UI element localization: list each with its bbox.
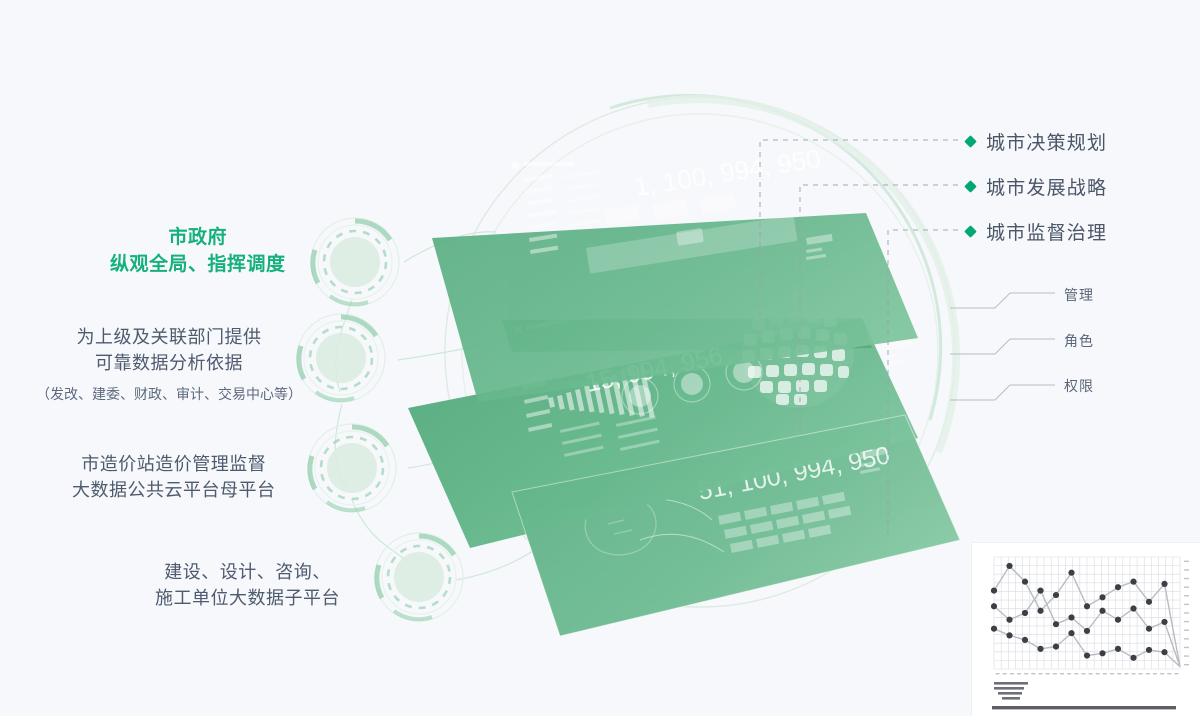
- panel-top: 1, 100, 994, 950: [432, 143, 918, 402]
- right-label-text: 城市监督治理: [986, 218, 1107, 245]
- ring-icon-3: [308, 424, 396, 512]
- panel-bottom-metric: 51, 100, 994, 950: [696, 441, 892, 506]
- panel-top-metric: 1, 100, 994, 950: [632, 143, 822, 202]
- ring-connector-path: [335, 232, 556, 580]
- dashed-connectors: [760, 140, 958, 538]
- inset-footer-lines: [994, 682, 1028, 700]
- panel-bottom: 51, 100, 994, 950: [512, 415, 960, 636]
- inset-line-chart: [972, 543, 1200, 716]
- right-label-city-supervision-governance: 城市监督治理: [966, 218, 1107, 245]
- diamond-bullet-icon: [964, 225, 977, 238]
- ring-icon-4: [375, 533, 463, 621]
- background-arc: [610, 95, 941, 420]
- right-label-city-development-strategy: 城市发展战略: [966, 173, 1107, 200]
- left-label-line: 建设、设计、咨询、: [155, 560, 340, 586]
- background-circles: [445, 97, 955, 607]
- ring-icon-1: [311, 218, 399, 306]
- inset-footer-bar: [992, 706, 1176, 709]
- left-label-line: 市政府: [110, 225, 286, 252]
- left-label-city-government: 市政府 纵观全局、指挥调度: [110, 225, 286, 279]
- background-arc-faint: [648, 99, 956, 452]
- left-label-sub-platform-units: 建设、设计、咨询、 施工单位大数据子平台: [155, 560, 340, 611]
- app-icon-sphere: [742, 296, 854, 408]
- diamond-bullet-icon: [964, 180, 977, 193]
- left-label-line: 大数据公共云平台母平台: [72, 478, 276, 504]
- inset-chart-card: [972, 543, 1200, 716]
- left-label-cost-station-platform: 市造价站造价管理监督 大数据公共云平台母平台: [72, 452, 276, 503]
- panel-gauges: [622, 354, 762, 414]
- ring-icon-2: [297, 314, 385, 402]
- diamond-bullet-icon: [964, 135, 977, 148]
- left-label-line: 施工单位大数据子平台: [155, 586, 340, 612]
- leader-lines: [950, 293, 1055, 400]
- infographic-canvas: 51, 100, 994, 950: [0, 0, 1200, 716]
- right-label-text: 城市发展战略: [986, 173, 1107, 200]
- right-label-text: 城市决策规划: [986, 128, 1107, 155]
- panel-bottom-outline: [512, 415, 960, 636]
- left-label-line: 为上级及关联部门提供: [36, 325, 302, 351]
- panel-middle: 15, 994, 956: [408, 296, 918, 548]
- panel-middle-metric: 15, 994, 956: [583, 342, 725, 398]
- right-small-label-role: 角色: [1064, 331, 1094, 351]
- left-label-line: 可靠数据分析依据: [36, 351, 302, 377]
- right-label-city-decision-planning: 城市决策规划: [966, 128, 1107, 155]
- right-small-label-permission: 权限: [1064, 376, 1094, 396]
- left-label-subtext: （发改、建委、财政、审计、交易中心等）: [36, 385, 302, 405]
- left-label-line: 纵观全局、指挥调度: [110, 252, 286, 279]
- right-small-label-management: 管理: [1064, 285, 1094, 305]
- left-label-line: 市造价站造价管理监督: [72, 452, 276, 478]
- left-label-superior-departments: 为上级及关联部门提供 可靠数据分析依据 （发改、建委、财政、审计、交易中心等）: [36, 325, 302, 405]
